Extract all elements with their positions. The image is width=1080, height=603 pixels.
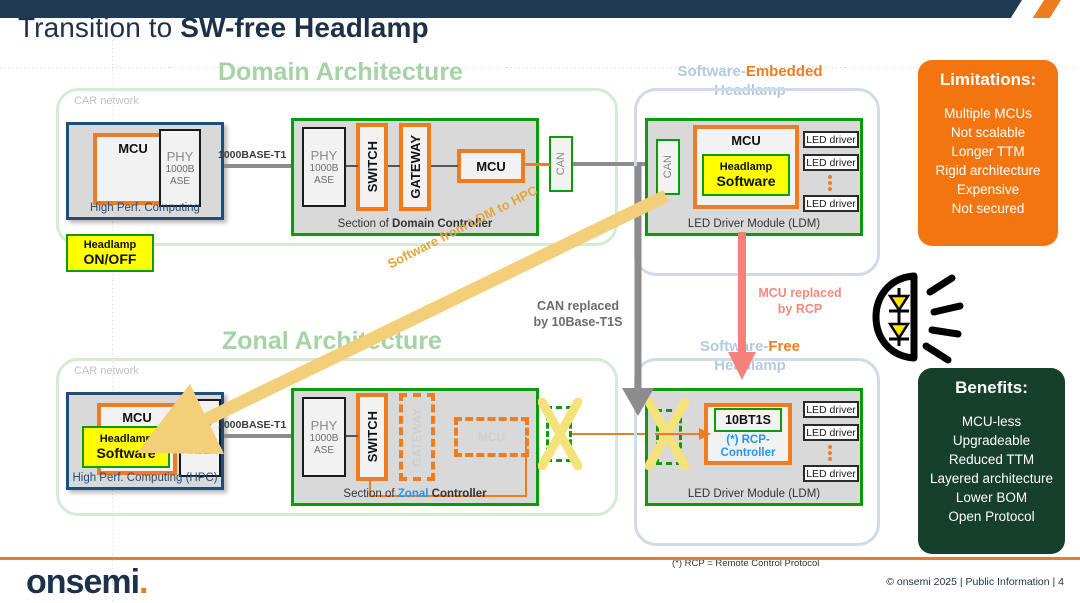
limitations-item: Multiple MCUs <box>918 104 1058 123</box>
page-title-plain: Transition to <box>18 12 180 43</box>
headlamp-software-line2-domain: Software <box>716 173 775 189</box>
hpc-phy-sub2-zonal: ASE <box>190 446 210 458</box>
domain-architecture-heading: Domain Architecture <box>218 58 463 87</box>
wire-gateway-mcu-domain <box>431 165 458 167</box>
led-driver-1-domain: LED driver <box>803 131 859 148</box>
limitations-title: Limitations: <box>918 70 1058 90</box>
ldm-can-label-domain: CAN <box>662 155 674 178</box>
sw-embedded-word-software: Software- <box>677 63 745 80</box>
ldm-caption-domain: LED Driver Module (LDM) <box>648 218 860 230</box>
mcu-replaced-annotation: MCU replaced by RCP <box>745 285 855 317</box>
mcu-replaced-line1: MCU replaced <box>758 286 841 300</box>
sw-free-word-free: Free <box>768 338 800 355</box>
domain-controller-phy-sub2: ASE <box>314 175 334 187</box>
benefits-item: Layered architecture <box>918 469 1065 488</box>
domain-controller-caption-plain: Section of <box>338 218 392 230</box>
hpc-mcu-label-zonal: MCU <box>122 410 152 425</box>
hpc-mcu-label-domain: MCU <box>118 141 148 156</box>
car-network-label-domain: CAR network <box>74 95 139 107</box>
domain-controller-phy-label: PHY <box>311 148 338 163</box>
headlamp-software-box-zonal: Headlamp Software <box>82 426 170 468</box>
domain-controller-switch-label: SWITCH <box>365 141 380 192</box>
zonal-controller-module: PHY 1000B ASE SWITCH GATEWAY MCU Section… <box>291 388 539 506</box>
rcp-controller-block: 10BT1S (*) RCP- Controller <box>704 403 792 465</box>
headlamp-onoff-box: Headlamp ON/OFF <box>66 234 154 272</box>
wire-arrow-into-rcp <box>655 425 711 443</box>
headlamp-software-line2-zonal: Software <box>96 445 155 461</box>
wire-switch-gateway-domain <box>388 165 400 167</box>
hpc-caption-zonal: High Perf. Computing (HPC) <box>69 472 221 484</box>
mcu-replaced-line2: by RCP <box>778 302 822 316</box>
led-driver-1-zonal: LED driver <box>803 401 859 418</box>
sw-free-word-software: Software- <box>700 338 768 355</box>
headlamp-icon <box>868 268 968 366</box>
hpc-module-zonal: MCU Headlamp Software PHY 1000B ASE High… <box>66 392 224 490</box>
headlamp-software-box-domain: Headlamp Software <box>702 154 790 196</box>
domain-controller-mcu-label: MCU <box>476 159 506 174</box>
zonal-controller-phy-sub1: 1000B <box>310 433 339 445</box>
onsemi-logo-text: onsemi <box>26 563 139 601</box>
zonal-architecture-heading: Zonal Architecture <box>222 327 442 356</box>
car-network-label-zonal: CAR network <box>74 365 139 377</box>
zonal-controller-caption-accent: Zonal <box>398 488 429 500</box>
benefits-item: Lower BOM <box>918 488 1065 507</box>
rcp-controller-line1: (*) RCP- <box>726 434 769 447</box>
link-1000base-t1-zonal <box>224 434 296 438</box>
benefits-item: Open Protocol <box>918 507 1065 526</box>
led-driver-3-zonal: LED driver <box>803 465 859 482</box>
zonal-controller-switch: SWITCH <box>356 393 388 481</box>
limitations-item: Longer TTM <box>918 142 1058 161</box>
limitations-item: Rigid architecture <box>918 161 1058 180</box>
wire-phy-switch-zonal <box>346 435 358 437</box>
limitations-item: Not secured <box>918 199 1058 218</box>
zonal-controller-phy-sub2: ASE <box>314 445 334 457</box>
benefits-item: Upgradeable <box>918 431 1065 450</box>
led-driver-ellipsis-domain <box>828 175 836 191</box>
sw-embedded-word-embedded: Embedded <box>746 63 823 80</box>
zonal-controller-phy-label: PHY <box>311 418 338 433</box>
rcp-10bt1s-label: 10BT1S <box>725 413 771 427</box>
domain-controller-phy-sub1: 1000B <box>310 163 339 175</box>
led-driver-ellipsis-zonal <box>828 445 836 461</box>
wire-phy-switch-domain <box>346 165 358 167</box>
page-title: Transition to SW-free Headlamp <box>18 12 429 44</box>
limitations-list: Multiple MCUs Not scalable Longer TTM Ri… <box>918 104 1058 218</box>
onsemi-logo-dot: . <box>139 563 147 601</box>
hpc-phy-sub2-domain: ASE <box>170 176 190 188</box>
zonal-controller-mcu-label: MCU <box>478 430 505 444</box>
benefits-item: Reduced TTM <box>918 450 1065 469</box>
benefits-title: Benefits: <box>918 378 1065 398</box>
page-title-bold: SW-free Headlamp <box>180 12 428 43</box>
limitations-item: Not scalable <box>918 123 1058 142</box>
hpc-phy-domain: PHY 1000B ASE <box>159 129 201 207</box>
link-label-1000base-t1-domain: 1000BASE-T1 <box>218 149 286 161</box>
ldm-module-domain: CAN MCU Headlamp Software LED driver LED… <box>645 118 863 236</box>
hpc-caption-domain: High Perf. Computing <box>69 202 221 214</box>
headlamp-software-line1-zonal: Headlamp <box>100 433 153 445</box>
zonal-controller-gateway-label: GATEWAY <box>410 408 424 467</box>
ldm-caption-zonal: LED Driver Module (LDM) <box>648 488 860 500</box>
zonal-controller-phy: PHY 1000B ASE <box>302 397 346 477</box>
limitations-callout: Limitations: Multiple MCUs Not scalable … <box>918 60 1058 246</box>
domain-controller-mcu: MCU <box>457 149 525 183</box>
can-replaced-line1: CAN replaced <box>537 299 619 313</box>
onsemi-logo: onsemi. <box>26 563 148 602</box>
domain-controller-can-label: CAN <box>555 152 567 175</box>
link-1000base-t1-domain <box>224 164 296 168</box>
zonal-controller-gateway-removed: GATEWAY <box>399 393 435 481</box>
wire-mcu-can-domain <box>522 163 550 166</box>
hpc-phy-sub1-zonal: 1000B <box>186 434 215 446</box>
led-driver-2-zonal: LED driver <box>803 424 859 441</box>
domain-controller-phy: PHY 1000B ASE <box>302 127 346 207</box>
hpc-phy-sub1-domain: 1000B <box>166 164 195 176</box>
domain-controller-caption: Section of Domain Controller <box>294 218 536 230</box>
hpc-module-domain: MCU PHY 1000B ASE High Perf. Computing <box>66 122 224 220</box>
domain-controller-module: PHY 1000B ASE SWITCH GATEWAY MCU Section… <box>291 118 539 236</box>
headlamp-onoff-line2: ON/OFF <box>84 251 137 267</box>
domain-controller-can: CAN <box>549 136 573 192</box>
domain-controller-gateway: GATEWAY <box>399 123 431 211</box>
ldm-can-domain: CAN <box>656 139 680 195</box>
benefits-callout: Benefits: MCU-less Upgradeable Reduced T… <box>918 368 1065 554</box>
hpc-phy-zonal: PHY 1000B ASE <box>179 399 221 477</box>
hpc-phy-label-zonal: PHY <box>187 419 214 434</box>
footer-orange-rule <box>0 557 1080 560</box>
ldm-mcu-label-domain: MCU <box>731 133 761 148</box>
benefits-item: MCU-less <box>918 412 1065 431</box>
headlamp-onoff-line1: Headlamp <box>84 239 137 251</box>
zonal-controller-switch-label: SWITCH <box>365 411 380 462</box>
hpc-phy-label-domain: PHY <box>167 149 194 164</box>
zonal-controller-mcu-removed: MCU <box>454 417 529 457</box>
can-replaced-line2: by 10Base-T1S <box>534 315 623 329</box>
zonal-controller-caption: Section of Zonal Controller <box>294 488 536 500</box>
copyright-text: © onsemi 2025 | Public Information | 4 <box>886 576 1064 588</box>
led-driver-2-domain: LED driver <box>803 154 859 171</box>
domain-controller-switch: SWITCH <box>356 123 388 211</box>
led-driver-3-domain: LED driver <box>803 195 859 212</box>
benefits-list: MCU-less Upgradeable Reduced TTM Layered… <box>918 412 1065 526</box>
domain-controller-gateway-label: GATEWAY <box>408 135 423 199</box>
rcp-controller-line2: Controller <box>721 447 776 460</box>
zonal-controller-caption-bold: Controller <box>428 488 486 500</box>
ldm-mcu-domain: MCU Headlamp Software <box>693 125 799 209</box>
link-label-1000base-t1-zonal: 1000BASE-T1 <box>218 419 286 431</box>
can-replaced-annotation: CAN replaced by 10Base-T1S <box>518 298 638 330</box>
rcp-10bt1s-chip: 10BT1S <box>714 408 782 432</box>
limitations-item: Expensive <box>918 180 1058 199</box>
headlamp-software-line1-domain: Headlamp <box>720 161 773 173</box>
zonal-controller-caption-plain: Section of <box>343 488 397 500</box>
